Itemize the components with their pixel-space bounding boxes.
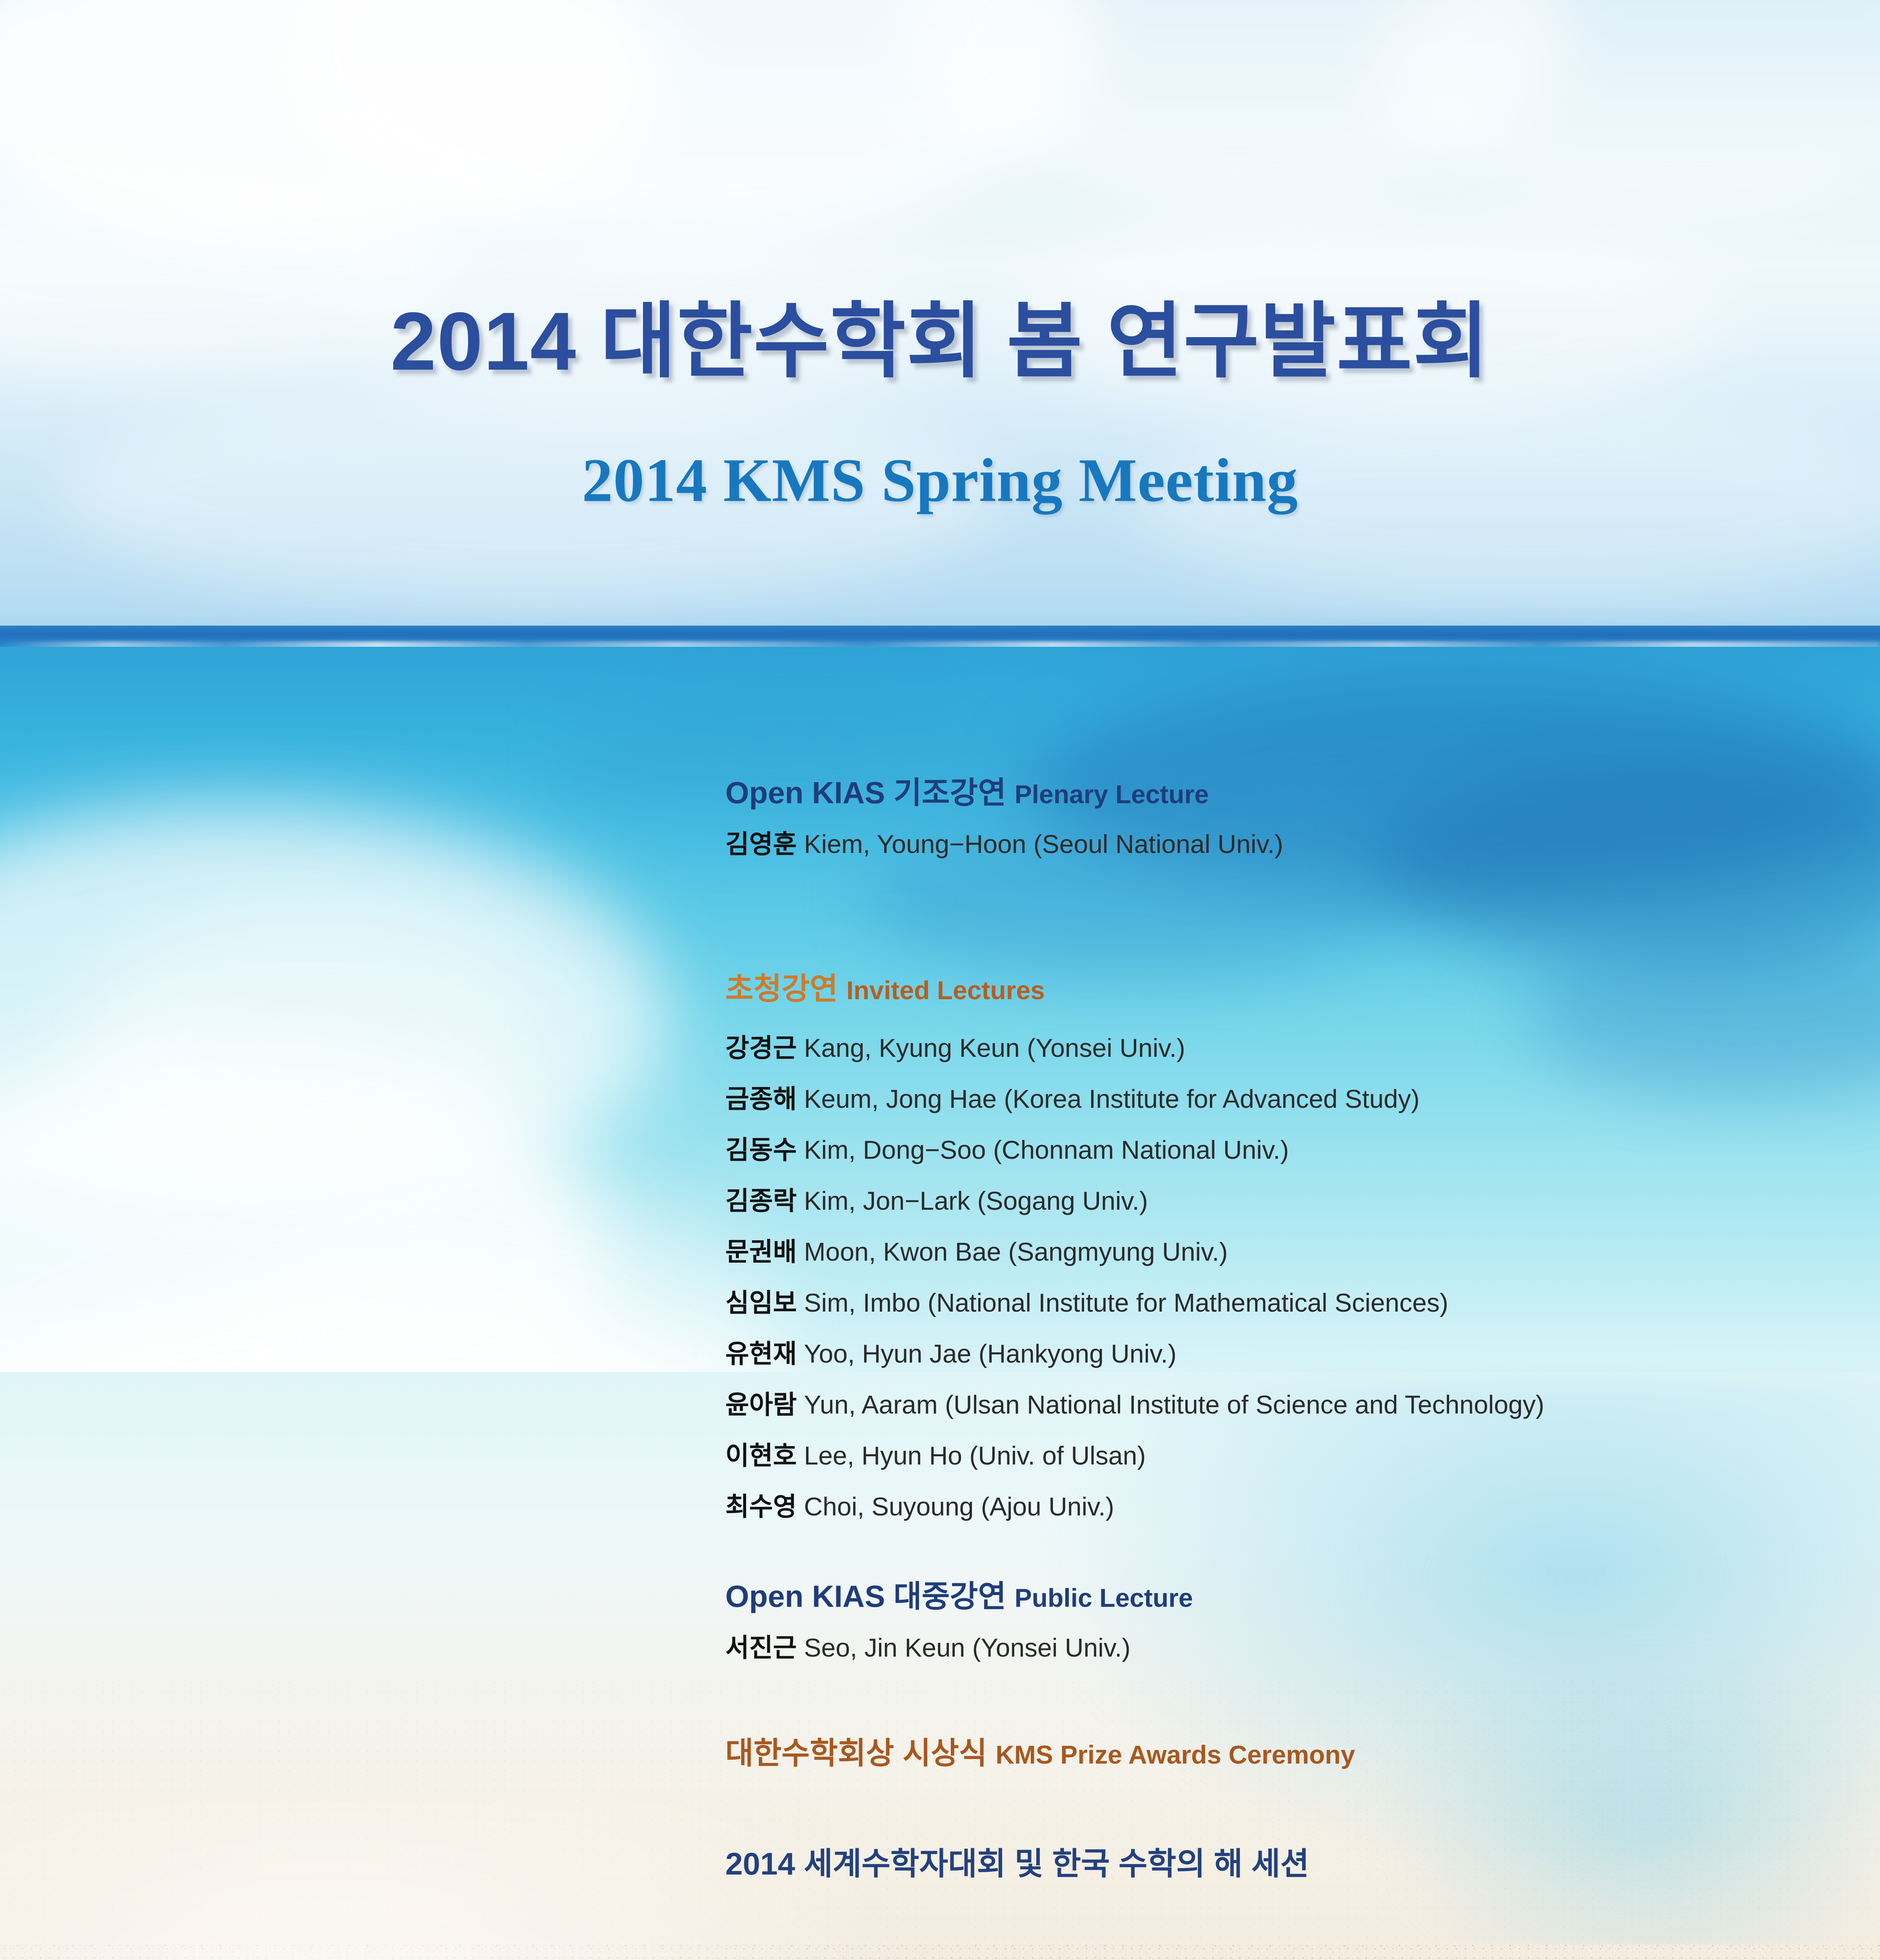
speaker-name-en: Lee, Hyun Ho (Univ. of Ulsan)	[804, 1441, 1146, 1470]
speaker-name-ko: 윤아람	[725, 1390, 797, 1419]
speaker-name-en: Keum, Jong Hae (Korea Institute for Adva…	[804, 1084, 1420, 1113]
speaker-row: 서진근 Seo, Jin Keun (Yonsei Univ.)	[725, 1635, 1130, 1661]
speaker-name-en: Kang, Kyung Keun (Yonsei Univ.)	[804, 1033, 1185, 1062]
section-heading-public: Open KIAS 대중강연 Public Lecture	[725, 1580, 1193, 1613]
section-heading-invited: 초청강연 Invited Lectures	[725, 972, 1045, 1005]
poster-title-korean: 2014 대한수학회 봄 연구발표회	[0, 274, 1880, 394]
section-heading-ko: 대한수학회상 시상식	[725, 1736, 987, 1770]
section-heading-plenary: Open KIAS 기조강연 Plenary Lecture	[725, 776, 1209, 809]
speaker-row: 윤아람 Yun, Aaram (Ulsan National Institute…	[725, 1392, 1544, 1417]
speaker-name-ko: 유현재	[725, 1339, 797, 1368]
section-heading-en: Public Lecture	[1015, 1583, 1193, 1612]
speaker-row: 문권배 Moon, Kwon Bae (Sangmyung Univ.)	[725, 1239, 1228, 1265]
speaker-name-ko: 최수영	[725, 1492, 797, 1521]
speaker-row: 김종락 Kim, Jon−Lark (Sogang Univ.)	[725, 1188, 1148, 1214]
speaker-row: 심임보 Sim, Imbo (National Institute for Ma…	[725, 1290, 1448, 1316]
speaker-name-en: Seo, Jin Keun (Yonsei Univ.)	[804, 1633, 1131, 1662]
speaker-name-en: Yun, Aaram (Ulsan National Institute of …	[804, 1390, 1544, 1419]
reef-patch	[549, 690, 1059, 831]
speaker-row: 김영훈 Kiem, Young−Hoon (Seoul National Uni…	[725, 831, 1283, 857]
speaker-name-ko: 금종해	[725, 1084, 797, 1113]
speaker-name-en: Choi, Suyoung (Ajou Univ.)	[804, 1492, 1114, 1521]
section-heading-ko: Open KIAS 기조강연	[725, 775, 1006, 810]
icm-session-line: 2014 세계수학자대회 및 한국 수학의 해 세션	[725, 1838, 1309, 1884]
speaker-name-en: Kim, Jon−Lark (Sogang Univ.)	[804, 1186, 1148, 1215]
speaker-name-ko: 문권배	[725, 1237, 797, 1266]
speaker-name-en: Kim, Dong−Soo (Chonnam National Univ.)	[804, 1135, 1289, 1164]
poster-canvas: 2014 대한수학회 봄 연구발표회 2014 KMS Spring Meeti…	[0, 0, 1880, 1960]
speaker-name-ko: 김영훈	[725, 829, 797, 858]
speaker-name-en: Sim, Imbo (National Institute for Mathem…	[804, 1288, 1448, 1317]
speaker-row: 강경근 Kang, Kyung Keun (Yonsei Univ.)	[725, 1035, 1185, 1061]
speaker-name-en: Moon, Kwon Bae (Sangmyung Univ.)	[804, 1237, 1228, 1266]
section-heading-en: KMS Prize Awards Ceremony	[995, 1740, 1355, 1769]
speaker-name-ko: 김종락	[725, 1186, 797, 1215]
speaker-name-ko: 심임보	[725, 1288, 797, 1317]
speaker-name-ko: 이현호	[725, 1441, 797, 1470]
speaker-name-en: Yoo, Hyun Jae (Hankyong Univ.)	[804, 1339, 1177, 1368]
speaker-name-en: Kiem, Young−Hoon (Seoul National Univ.)	[804, 829, 1283, 858]
cloud-shape	[1372, 0, 1880, 220]
section-heading-prize: 대한수학회상 시상식 KMS Prize Awards Ceremony	[725, 1737, 1355, 1769]
speaker-row: 유현재 Yoo, Hyun Jae (Hankyong Univ.)	[725, 1341, 1177, 1367]
surf-foam	[78, 902, 549, 1176]
speaker-row: 최수영 Choi, Suyoung (Ajou Univ.)	[725, 1494, 1114, 1519]
speaker-name-ko: 서진근	[725, 1633, 797, 1662]
speaker-row: 금종해 Keum, Jong Hae (Korea Institute for …	[725, 1086, 1420, 1112]
section-heading-en: Plenary Lecture	[1015, 780, 1209, 809]
speaker-name-ko: 강경근	[725, 1033, 797, 1062]
section-heading-ko: 초청강연	[725, 971, 838, 1006]
poster-title-english: 2014 KMS Spring Meeting	[0, 445, 1880, 516]
speaker-row: 이현호 Lee, Hyun Ho (Univ. of Ulsan)	[725, 1443, 1146, 1468]
section-heading-en: Invited Lectures	[846, 976, 1045, 1005]
speaker-row: 김동수 Kim, Dong−Soo (Chonnam National Univ…	[725, 1137, 1289, 1163]
speaker-name-ko: 김동수	[725, 1135, 797, 1164]
section-heading-ko: Open KIAS 대중강연	[725, 1579, 1006, 1613]
